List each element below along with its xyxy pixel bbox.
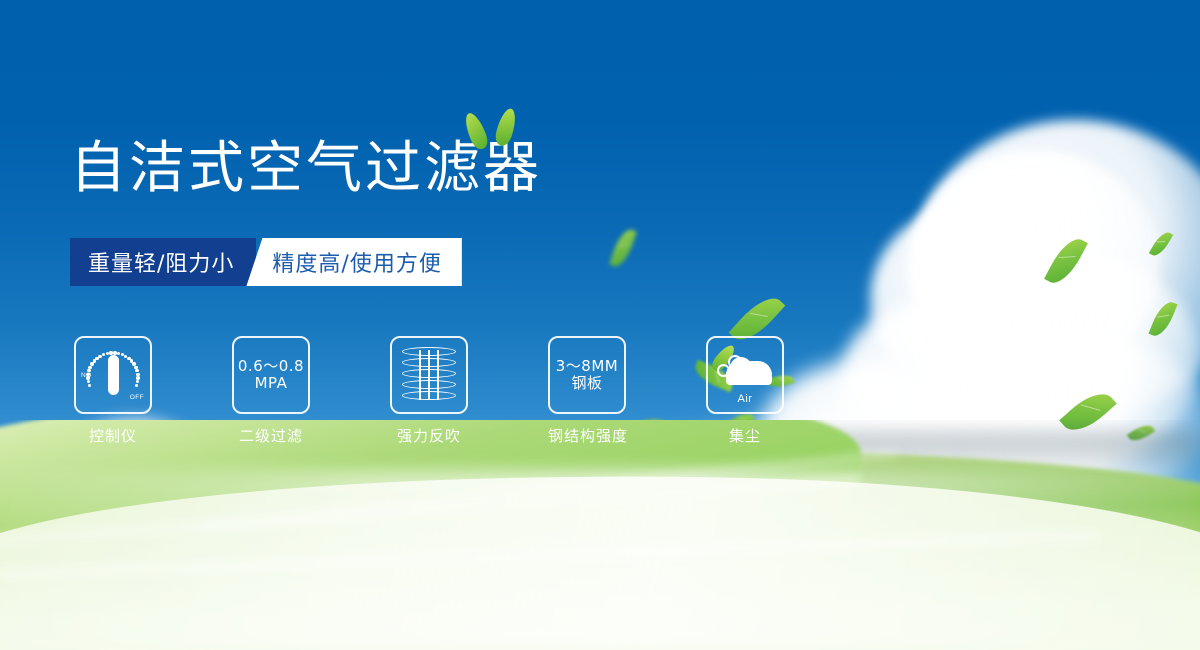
gauge-tick-dot <box>88 384 91 387</box>
pressure-range: 0.6～0.8 <box>238 358 304 375</box>
leaf-icon <box>1148 298 1177 339</box>
product-banner: 自洁式空气过滤器 重量轻/阻力小 精度高/使用方便 NO OFF 控制仪 0.6… <box>0 0 1200 650</box>
gauge-tick-dot <box>102 353 105 356</box>
feature-item-backblow[interactable]: 强力反吹 <box>390 336 468 446</box>
feature-label: 钢结构强度 <box>548 425 626 446</box>
subtitle-secondary: 精度高/使用方便 <box>246 238 461 286</box>
feature-item-controller[interactable]: NO OFF 控制仪 <box>74 336 152 446</box>
feature-item-pressure[interactable]: 0.6～0.8 MPA 二级过滤 <box>232 336 310 446</box>
cartridge-bar <box>419 350 421 400</box>
feature-icon-box: 3～8MM 钢板 <box>548 336 626 414</box>
steel-thickness: 3～8MM <box>556 358 618 375</box>
cartridge-bar <box>437 350 439 400</box>
gauge-tick-dot <box>135 369 138 372</box>
leaf-icon <box>1149 229 1173 259</box>
feature-item-steel[interactable]: 3～8MM 钢板 钢结构强度 <box>548 336 626 446</box>
subtitle-primary: 重量轻/阻力小 <box>70 238 256 286</box>
feature-label: 二级过滤 <box>232 425 310 446</box>
leaf-icon <box>461 110 490 151</box>
cloud-shape <box>910 150 1160 380</box>
feature-list: NO OFF 控制仪 0.6～0.8 MPA 二级过滤 <box>74 336 784 446</box>
filter-cartridge-icon <box>402 345 456 405</box>
gauge-off-label: OFF <box>130 394 144 401</box>
gauge-tick-dot <box>135 384 138 387</box>
grass-sunlight-sheen <box>0 470 1200 650</box>
grass-field <box>0 420 1200 650</box>
gauge-tick-dot <box>86 376 89 379</box>
feature-icon-box: Air <box>706 336 784 414</box>
gauge-tick-dot <box>136 380 139 383</box>
subtitle-bar: 重量轻/阻力小 精度高/使用方便 <box>70 238 462 286</box>
gauge-dial-icon: NO OFF <box>82 346 144 404</box>
cloud-shape <box>870 205 1070 395</box>
feature-label: 强力反吹 <box>390 425 468 446</box>
gauge-tick-dot <box>87 369 90 372</box>
leaf-icon <box>609 227 637 270</box>
pressure-unit: MPA <box>238 375 304 392</box>
leaf-icon <box>493 107 519 148</box>
feature-icon-box <box>390 336 468 414</box>
gauge-tick-dot <box>117 352 120 355</box>
title-leaf-decoration <box>462 106 532 154</box>
feature-icon-box: 0.6～0.8 MPA <box>232 336 310 414</box>
title-block: 自洁式空气过滤器 <box>70 140 542 199</box>
gauge-tick-dot <box>87 380 90 383</box>
feature-label: 集尘 <box>706 425 784 446</box>
steel-material: 钢板 <box>556 375 618 392</box>
cloud-shape <box>910 120 1200 420</box>
cartridge-bar <box>428 350 430 400</box>
steel-plate-text-icon: 3～8MM 钢板 <box>556 358 618 393</box>
air-label: Air <box>714 393 776 405</box>
feature-label: 控制仪 <box>74 425 152 446</box>
leaf-icon <box>1044 233 1088 289</box>
air-cloud-icon: Air <box>714 347 776 403</box>
gauge-tick-dot <box>88 366 91 369</box>
feature-item-dust[interactable]: Air 集尘 <box>706 336 784 446</box>
feature-icon-box: NO OFF <box>74 336 152 414</box>
cloud-body <box>726 361 772 385</box>
gauge-tick-dot <box>86 373 89 376</box>
gauge-tick-dot <box>90 362 93 365</box>
pressure-text-icon: 0.6～0.8 MPA <box>238 358 304 393</box>
gauge-needle <box>108 355 119 395</box>
